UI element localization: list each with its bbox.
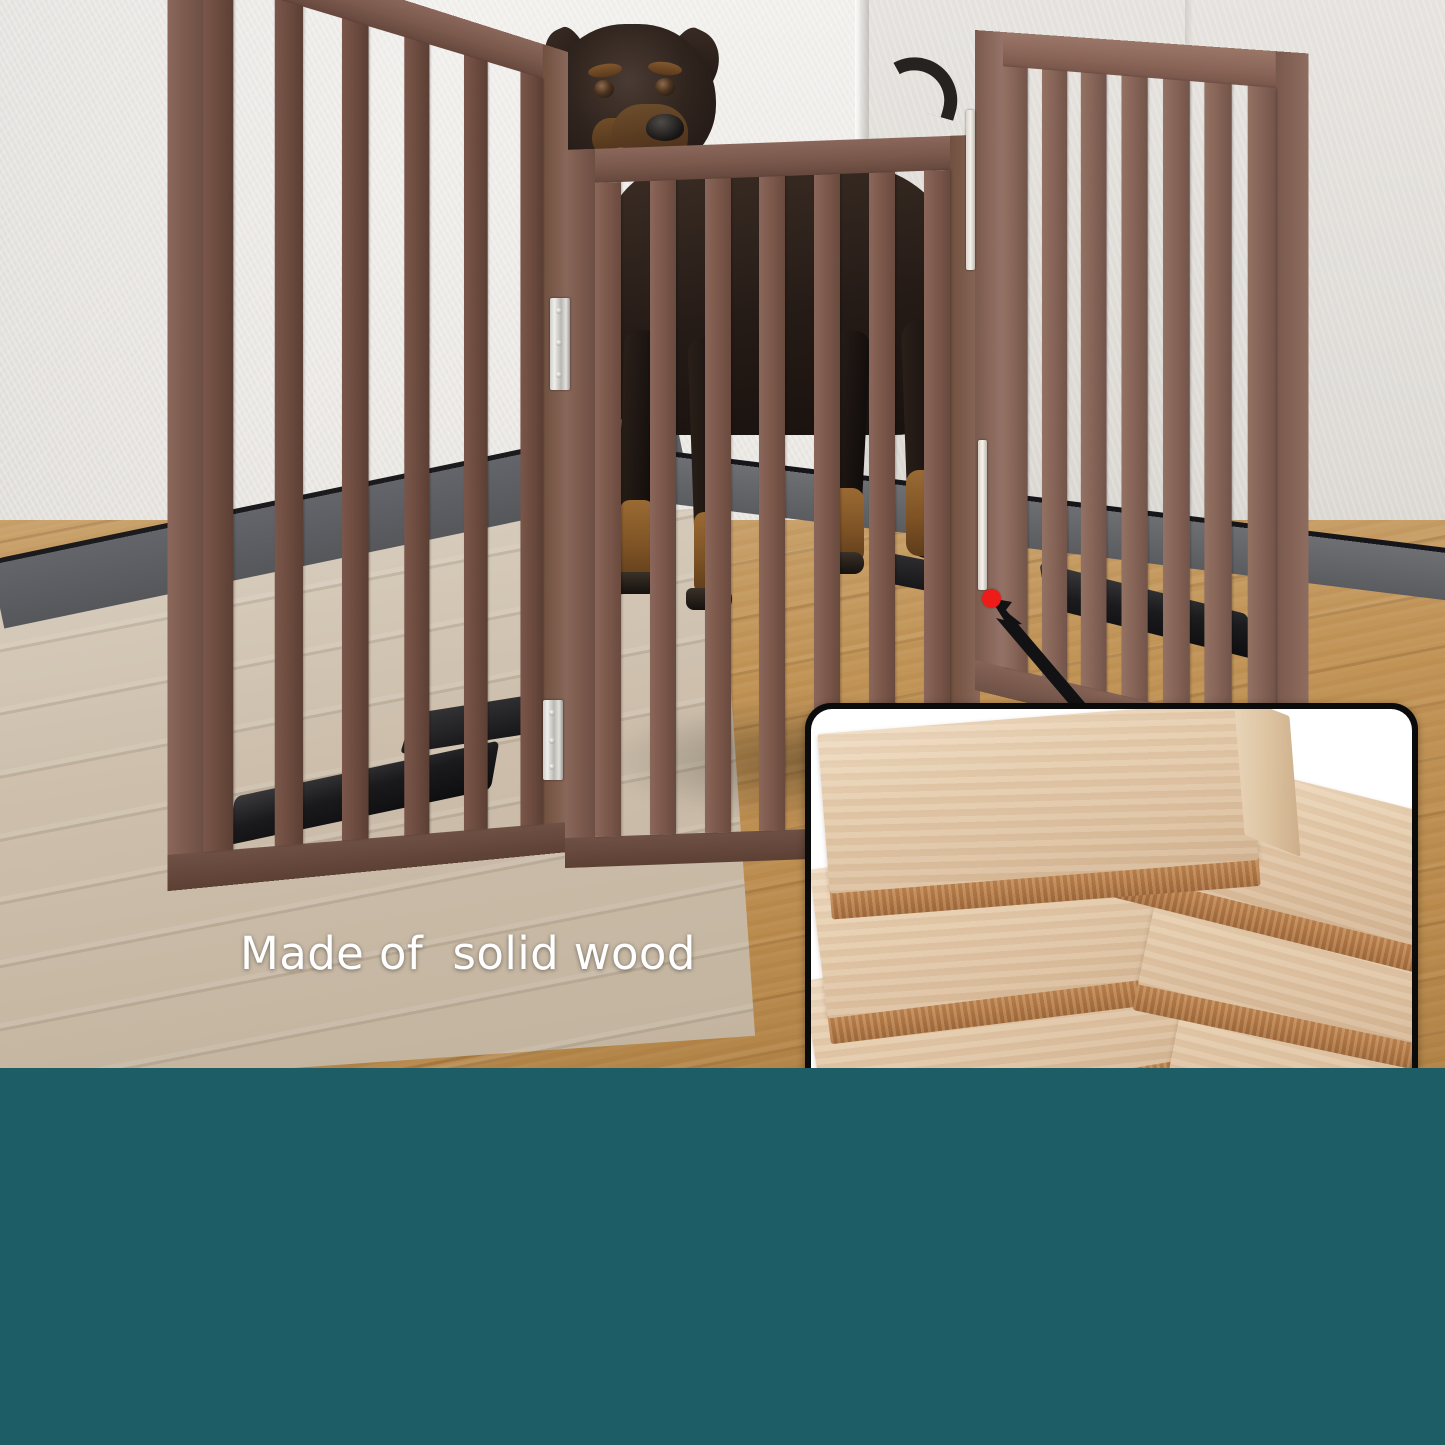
gate-slat <box>203 0 233 852</box>
gate-slats-left <box>203 0 543 852</box>
gate-slat <box>705 178 731 833</box>
product-marketing-image: Made of solid wood <box>0 0 1445 1445</box>
gate-slat <box>464 55 488 831</box>
gate-slat <box>275 0 303 846</box>
gate-hinge-upper-right-joint <box>966 110 975 270</box>
gate-slat <box>405 37 430 835</box>
gate-slat <box>1205 82 1232 721</box>
made-of-solid-wood-caption: Made of solid wood <box>240 927 696 980</box>
gate-panel-left <box>167 0 568 891</box>
gate-stile-left-outer <box>167 0 203 891</box>
gate-hinge-lower-right-joint <box>978 440 987 590</box>
gate-slat <box>650 180 676 835</box>
gate-slat <box>520 72 542 826</box>
gate-hinge-lower-left-joint <box>543 700 563 780</box>
gate-slat <box>1248 86 1276 732</box>
product-photo: Made of solid wood <box>0 0 1445 1068</box>
feature-list-band: 1. Limit your pet from running around 2.… <box>0 1068 1445 1445</box>
gate-stile-right-outer <box>1276 51 1309 773</box>
gate-slat <box>342 18 369 840</box>
solid-wood-inset-panel <box>805 703 1418 1068</box>
gate-hinge-upper-left-joint <box>550 298 570 390</box>
gate-slat <box>595 182 621 837</box>
solid-wood-inset-photo <box>811 709 1412 1068</box>
wood-board <box>817 709 1258 894</box>
callout-red-dot <box>982 589 1001 608</box>
gate-stile-middle-left <box>565 149 595 868</box>
gate-slat <box>759 176 785 831</box>
